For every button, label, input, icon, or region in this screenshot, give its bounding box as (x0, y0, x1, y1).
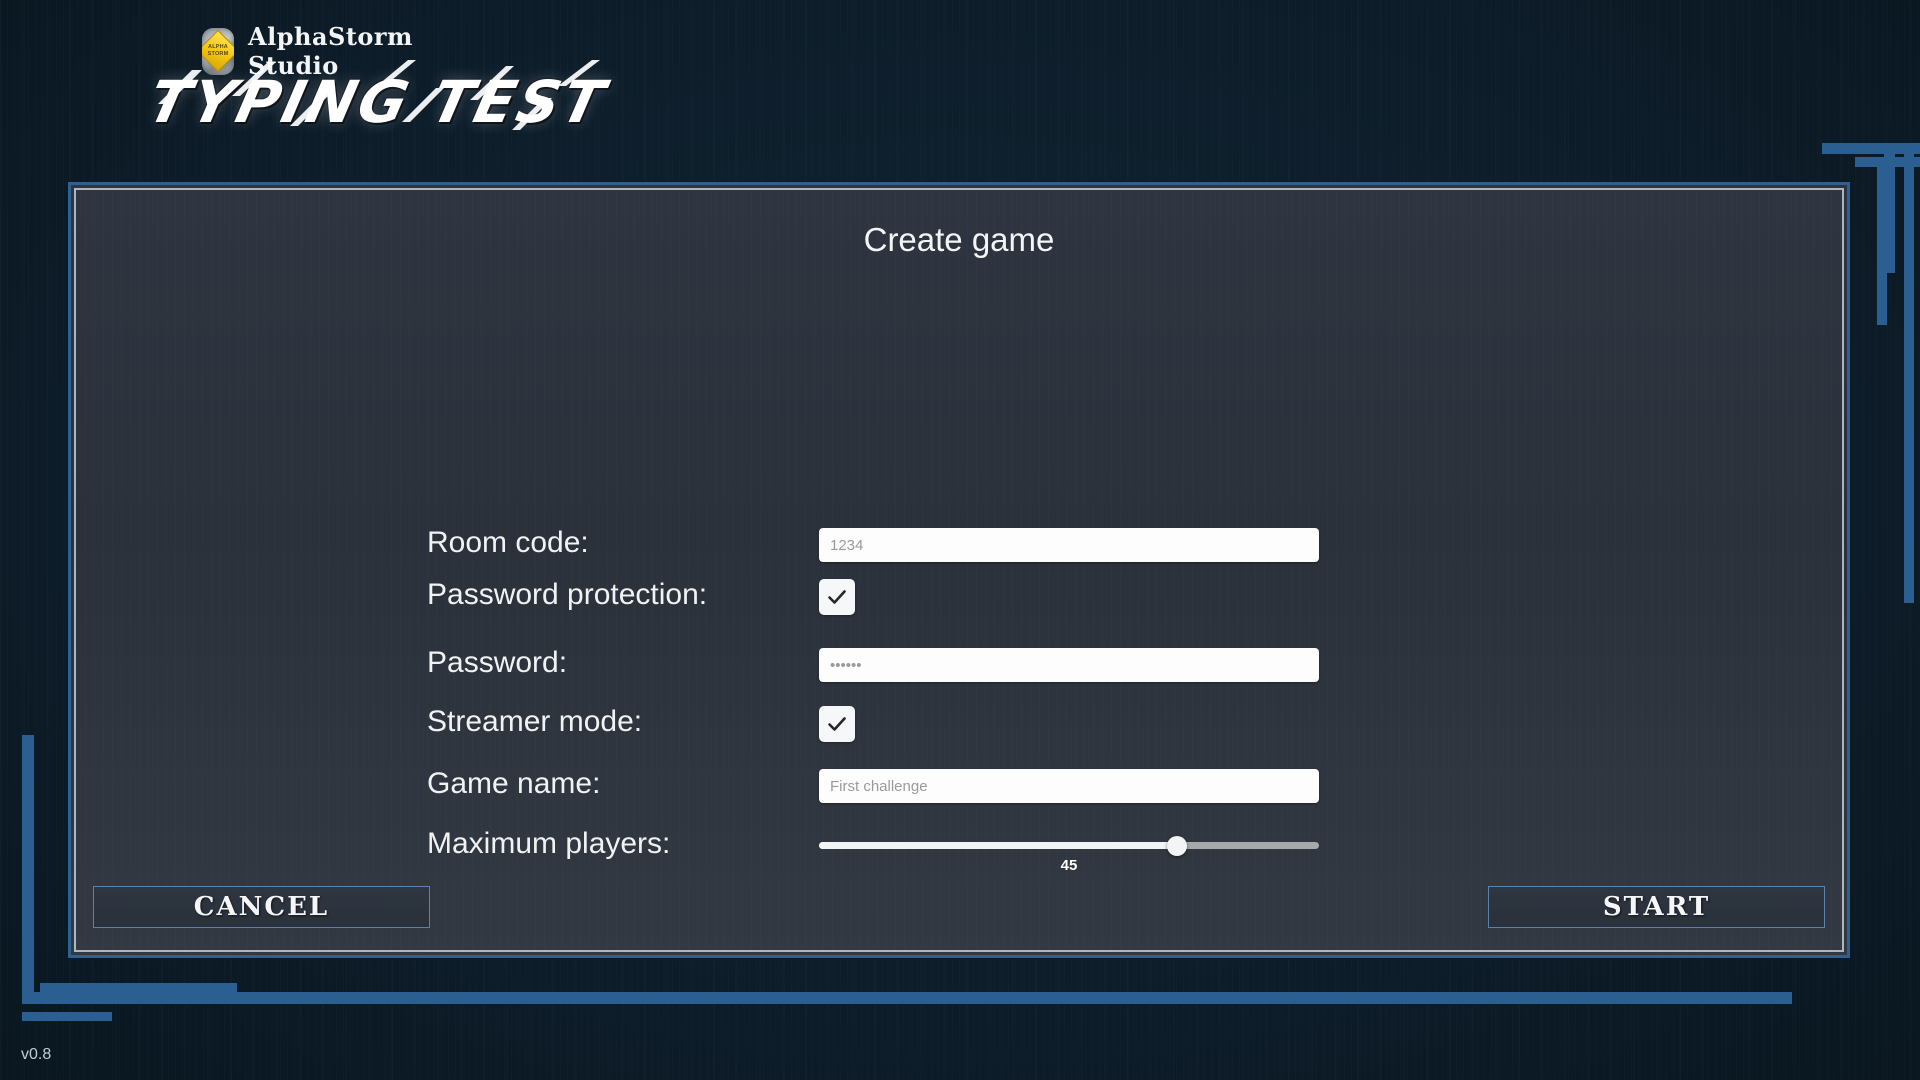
slider-value-label: 45 (819, 857, 1319, 874)
label-room-code: Room code: (427, 526, 887, 560)
decorative-bracket-bottom-left (22, 735, 34, 1004)
decorative-bracket-top-right (1855, 157, 1920, 167)
label-maximum-players: Maximum players: (427, 827, 887, 861)
maximum-players-slider[interactable]: 45 (819, 842, 1319, 874)
decorative-bracket-bottom-left (22, 1012, 112, 1021)
version-label: v0.8 (21, 1046, 51, 1064)
panel-inner-border (74, 188, 1844, 952)
start-button-label: START (1603, 892, 1710, 922)
checkmark-icon (825, 712, 849, 736)
cancel-button[interactable]: CANCEL (93, 886, 430, 928)
cancel-button-label: CANCEL (194, 892, 329, 922)
label-password-protection: Password protection: (427, 578, 887, 612)
password-protection-checkbox[interactable] (819, 579, 855, 615)
decorative-bracket-top-right (1822, 143, 1920, 154)
decorative-bracket-top-right (1877, 157, 1887, 325)
password-input[interactable] (819, 648, 1319, 682)
control-room-code (819, 528, 1319, 562)
label-game-name: Game name: (427, 767, 887, 801)
room-code-input[interactable] (819, 528, 1319, 562)
logo-diamond-line2: STORM (208, 51, 229, 58)
decorative-bracket-top-right (1904, 143, 1914, 603)
control-password (819, 648, 1319, 682)
panel-texture (76, 190, 1842, 950)
decorative-bracket-top-right (1884, 143, 1895, 273)
label-password: Password: (427, 646, 887, 680)
decorative-bracket-bottom-left (22, 992, 1792, 1004)
slider-track[interactable] (819, 842, 1319, 849)
page-title: Create game (71, 221, 1847, 259)
control-game-name (819, 769, 1319, 803)
create-game-panel: Create game Room code: Password protecti… (68, 182, 1850, 958)
control-streamer-mode (819, 706, 855, 742)
app-root: ALPHA STORM AlphaStorm Studio TYPING TES… (0, 0, 1920, 1080)
control-maximum-players: 45 (819, 842, 1319, 874)
game-title: TYPING TEST (142, 68, 613, 136)
slider-fill (819, 842, 1177, 849)
checkmark-icon (825, 585, 849, 609)
start-button[interactable]: START (1488, 886, 1825, 928)
slider-knob[interactable] (1167, 836, 1187, 856)
game-name-input[interactable] (819, 769, 1319, 803)
control-password-protection (819, 579, 855, 615)
decorative-bracket-bottom-left (40, 983, 237, 993)
logo-diamond-line1: ALPHA (208, 44, 228, 51)
streamer-mode-checkbox[interactable] (819, 706, 855, 742)
label-streamer-mode: Streamer mode: (427, 705, 887, 739)
